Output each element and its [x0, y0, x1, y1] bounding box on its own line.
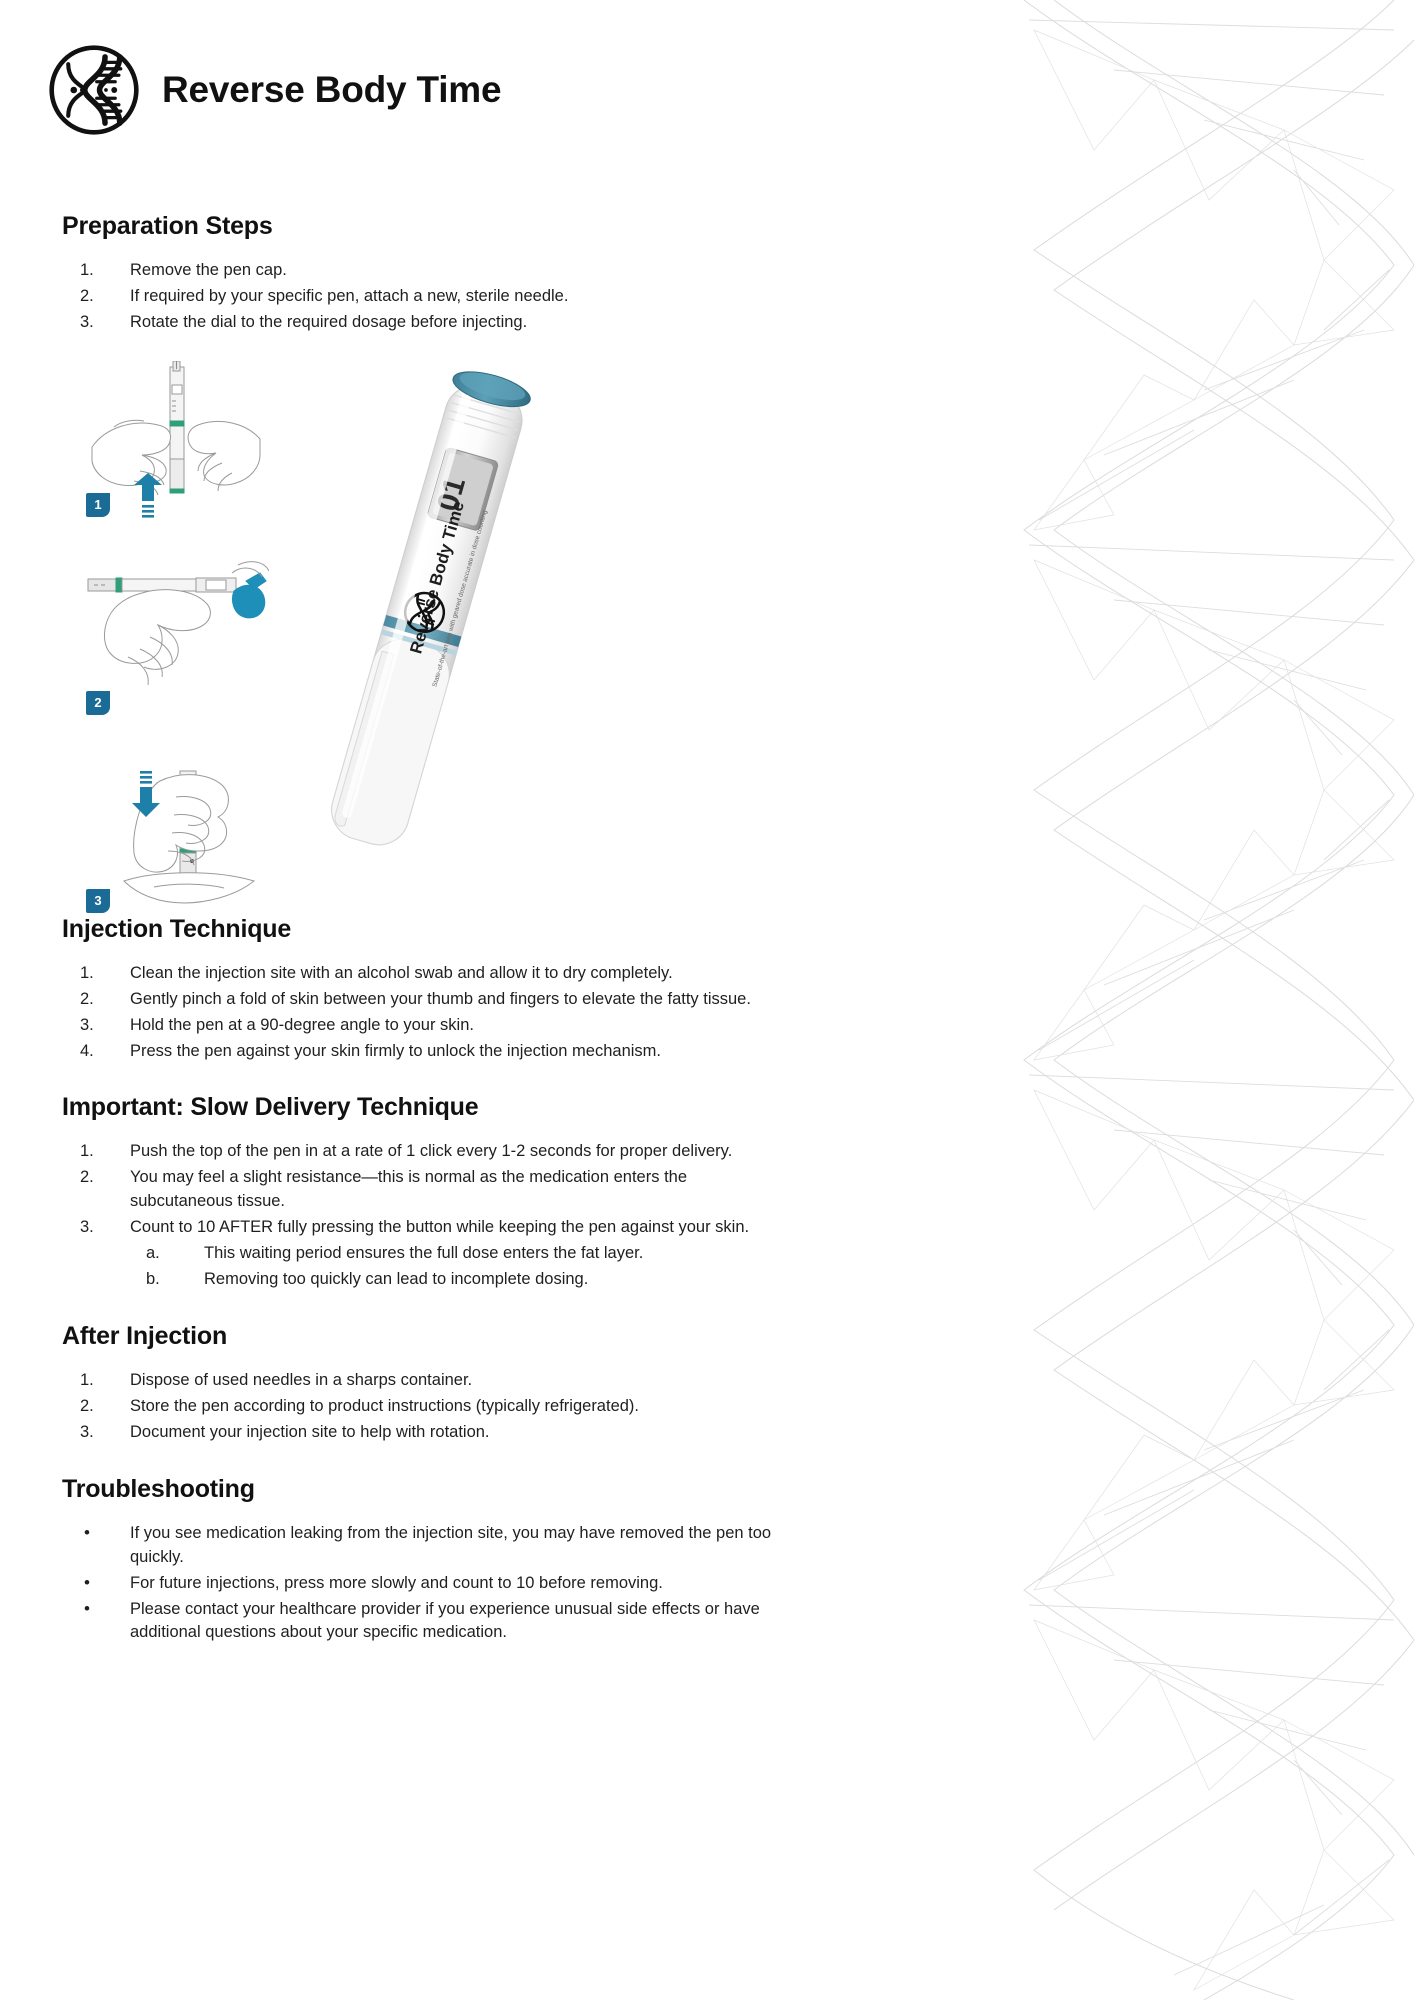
list-marker: 4.	[80, 1040, 120, 1064]
list-text: If required by your specific pen, attach…	[130, 287, 568, 305]
step-badge: 2	[86, 691, 110, 715]
list-item: 4. Press the pen against your skin firml…	[62, 1040, 780, 1064]
sub-list-marker: a.	[146, 1242, 192, 1266]
list-item: • If you see medication leaking from the…	[62, 1522, 780, 1570]
list-item: 1. Remove the pen cap.	[62, 259, 780, 283]
list-item: 2. You may feel a slight resistance—this…	[62, 1166, 780, 1214]
list-item: 3. Document your injection site to help …	[62, 1421, 780, 1445]
list-item: 3. Rotate the dial to the required dosag…	[62, 311, 780, 335]
slow-delivery-list: 1. Push the top of the pen in at a rate …	[62, 1140, 780, 1292]
list-text: For future injections, press more slowly…	[130, 1574, 663, 1592]
list-item: • Please contact your healthcare provide…	[62, 1598, 780, 1646]
bullet-icon: •	[84, 1572, 124, 1594]
step-illustration-1: 1	[84, 361, 269, 521]
step-illustrations-column: 1	[84, 361, 269, 955]
list-marker: 3.	[80, 1421, 120, 1445]
step-illustration-3: 3	[84, 757, 269, 917]
list-item: 1. Push the top of the pen in at a rate …	[62, 1140, 780, 1164]
list-text: Count to 10 AFTER fully pressing the but…	[130, 1218, 749, 1236]
page-title: Reverse Body Time	[162, 69, 501, 111]
section-title: Preparation Steps	[62, 212, 780, 241]
step-illustration-2: 2	[84, 559, 269, 719]
section-title: Important: Slow Delivery Technique	[62, 1093, 780, 1122]
list-item: 2. Gently pinch a fold of skin between y…	[62, 988, 780, 1012]
list-text: Rotate the dial to the required dosage b…	[130, 313, 527, 331]
list-text: If you see medication leaking from the i…	[130, 1524, 771, 1566]
list-text: Please contact your healthcare provider …	[130, 1600, 760, 1642]
section-troubleshooting: Troubleshooting • If you see medication …	[0, 1475, 1060, 1646]
injection-technique-list: 1. Clean the injection site with an alco…	[62, 962, 780, 1064]
list-marker: 2.	[80, 1395, 120, 1419]
after-injection-list: 1. Dispose of used needles in a sharps c…	[62, 1369, 780, 1445]
list-text: Store the pen according to product instr…	[130, 1397, 639, 1415]
hand-pressing-pen-into-skin-illustration	[84, 757, 269, 917]
list-item: 2. If required by your specific pen, att…	[62, 285, 780, 309]
list-item: 3. Count to 10 AFTER fully pressing the …	[62, 1216, 780, 1292]
dna-helix-icon	[48, 44, 140, 136]
list-text: Dispose of used needles in a sharps cont…	[130, 1371, 472, 1389]
section-slow-delivery-technique: Important: Slow Delivery Technique 1. Pu…	[0, 1093, 1060, 1292]
step-badge: 3	[86, 889, 110, 913]
bullet-icon: •	[84, 1522, 124, 1544]
sub-list-text: Removing too quickly can lead to incompl…	[204, 1270, 588, 1288]
hand-removing-needle-cap-illustration	[84, 559, 269, 719]
list-item: 1. Dispose of used needles in a sharps c…	[62, 1369, 780, 1393]
sub-list-item: a. This waiting period ensures the full …	[130, 1242, 780, 1266]
section-preparation-steps: Preparation Steps 1. Remove the pen cap.…	[0, 212, 1060, 335]
list-item: 2. Store the pen according to product in…	[62, 1395, 780, 1419]
troubleshooting-list: • If you see medication leaking from the…	[62, 1522, 780, 1646]
list-item: 1. Clean the injection site with an alco…	[62, 962, 780, 986]
document-page: Reverse Body Time Preparation Steps 1. R…	[0, 0, 1060, 1645]
list-item: • For future injections, press more slow…	[62, 1572, 780, 1596]
list-marker: 2.	[80, 285, 120, 309]
sub-list-text: This waiting period ensures the full dos…	[204, 1244, 643, 1262]
list-text: Push the top of the pen in at a rate of …	[130, 1142, 732, 1160]
list-text: Document your injection site to help wit…	[130, 1423, 490, 1441]
list-marker: 2.	[80, 1166, 120, 1190]
instruction-figure-area: 1	[0, 361, 1060, 881]
injection-pen-illustration: 01 Reverse Body Time State-of-the-art pe…	[280, 345, 580, 885]
sub-list-marker: b.	[146, 1268, 192, 1292]
list-text: Gently pinch a fold of skin between your…	[130, 990, 751, 1008]
sub-list-item: b. Removing too quickly can lead to inco…	[130, 1268, 780, 1292]
section-title: After Injection	[62, 1322, 780, 1351]
list-text: Clean the injection site with an alcohol…	[130, 964, 673, 982]
list-marker: 2.	[80, 988, 120, 1012]
list-marker: 3.	[80, 1216, 120, 1240]
step-badge: 1	[86, 493, 110, 517]
list-text: You may feel a slight resistance—this is…	[130, 1168, 687, 1210]
slow-delivery-sublist: a. This waiting period ensures the full …	[130, 1242, 780, 1292]
section-title: Troubleshooting	[62, 1475, 780, 1504]
preparation-steps-list: 1. Remove the pen cap. 2. If required by…	[62, 259, 780, 335]
list-item: 3. Hold the pen at a 90-degree angle to …	[62, 1014, 780, 1038]
list-marker: 1.	[80, 259, 120, 283]
list-marker: 1.	[80, 1140, 120, 1164]
list-marker: 1.	[80, 1369, 120, 1393]
bullet-icon: •	[84, 1598, 124, 1620]
injection-pen-svg: 01 Reverse Body Time State-of-the-art pe…	[280, 345, 580, 885]
list-text: Press the pen against your skin firmly t…	[130, 1042, 661, 1060]
list-text: Remove the pen cap.	[130, 261, 287, 279]
list-marker: 3.	[80, 311, 120, 335]
list-marker: 1.	[80, 962, 120, 986]
list-text: Hold the pen at a 90-degree angle to you…	[130, 1016, 474, 1034]
section-after-injection: After Injection 1. Dispose of used needl…	[0, 1322, 1060, 1445]
hand-holding-pen-attach-needle-illustration	[84, 361, 269, 521]
document-header: Reverse Body Time	[0, 0, 1060, 136]
list-marker: 3.	[80, 1014, 120, 1038]
